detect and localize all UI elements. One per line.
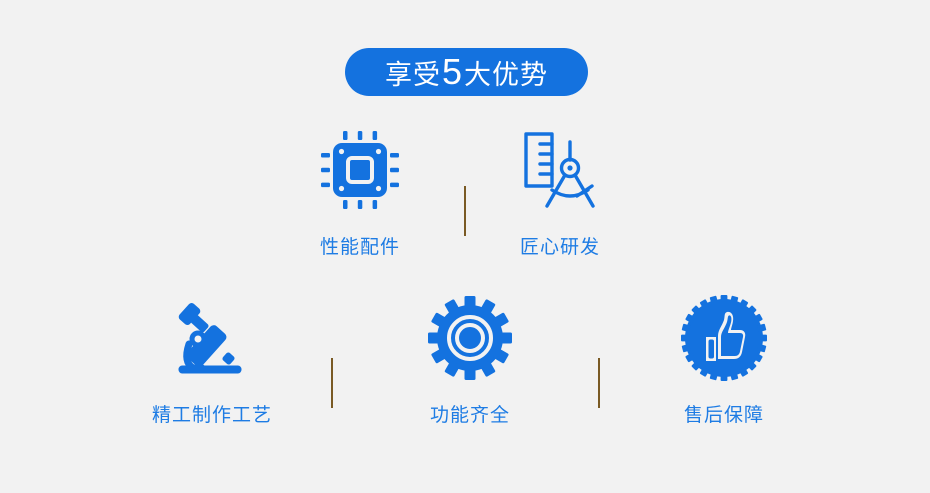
heading-suffix: 大优势 bbox=[464, 62, 548, 89]
thumbs-up-badge-icon bbox=[678, 290, 770, 386]
feature-label-chip: 性能配件 bbox=[320, 232, 400, 259]
gear-icon bbox=[424, 290, 516, 386]
heading-number: 5 bbox=[441, 54, 464, 90]
feature-item-compass: 匠心研发 bbox=[475, 122, 645, 259]
divider-bottom-1 bbox=[331, 358, 333, 408]
feature-item-gear: 功能齐全 bbox=[385, 290, 555, 427]
divider-bottom-2 bbox=[598, 358, 600, 408]
feature-item-thumbs-up: 售后保障 bbox=[639, 290, 809, 427]
heading-text: 享受5大优势 bbox=[385, 54, 548, 90]
cpu-chip-icon bbox=[314, 122, 406, 218]
microscope-icon bbox=[166, 290, 258, 386]
feature-label-compass: 匠心研发 bbox=[520, 232, 600, 259]
feature-item-microscope: 精工制作工艺 bbox=[127, 290, 297, 427]
promo-banner: 享受5大优势 bbox=[0, 0, 930, 493]
ruler-compass-icon bbox=[514, 122, 606, 218]
heading-pill: 享受5大优势 bbox=[345, 48, 588, 96]
feature-label-microscope: 精工制作工艺 bbox=[152, 400, 272, 427]
heading-prefix: 享受 bbox=[385, 62, 441, 89]
divider-top-1 bbox=[464, 186, 466, 236]
feature-label-thumbs-up: 售后保障 bbox=[684, 400, 764, 427]
feature-label-gear: 功能齐全 bbox=[430, 400, 510, 427]
feature-item-chip: 性能配件 bbox=[275, 122, 445, 259]
